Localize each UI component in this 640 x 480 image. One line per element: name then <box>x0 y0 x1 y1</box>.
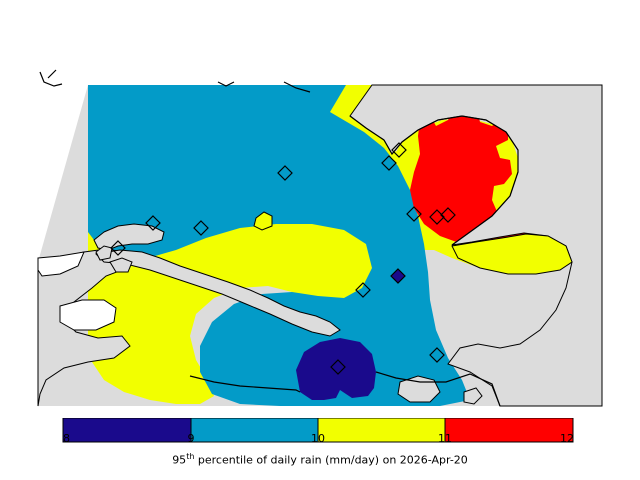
caption-percentile-number: 95 <box>172 454 186 467</box>
caption-description: percentile of daily rain (mm/day) on 202… <box>194 454 467 467</box>
colorbar-tick-9: 9 <box>188 432 195 445</box>
colorbar-caption: 95th percentile of daily rain (mm/day) o… <box>0 452 640 467</box>
colorbar-band-9-10 <box>191 418 318 442</box>
colorbar-tick-12: 12 <box>560 432 574 445</box>
map-canvas <box>0 0 640 412</box>
weather-map-figure: VictoriaWeather.ca -- Summer Total Daily… <box>0 0 640 480</box>
colorbar-band-11-12 <box>445 418 573 442</box>
colorbar-tick-11: 11 <box>438 432 452 445</box>
map-svg <box>0 0 640 412</box>
colorbar-band-8-9 <box>63 418 191 442</box>
colorbar-tick-8: 8 <box>63 432 70 445</box>
colorbar-band-10-11 <box>318 418 445 442</box>
colorbar: 8 9 10 11 12 95th percentile of daily ra… <box>0 418 640 480</box>
colorbar-tick-10: 10 <box>311 432 325 445</box>
